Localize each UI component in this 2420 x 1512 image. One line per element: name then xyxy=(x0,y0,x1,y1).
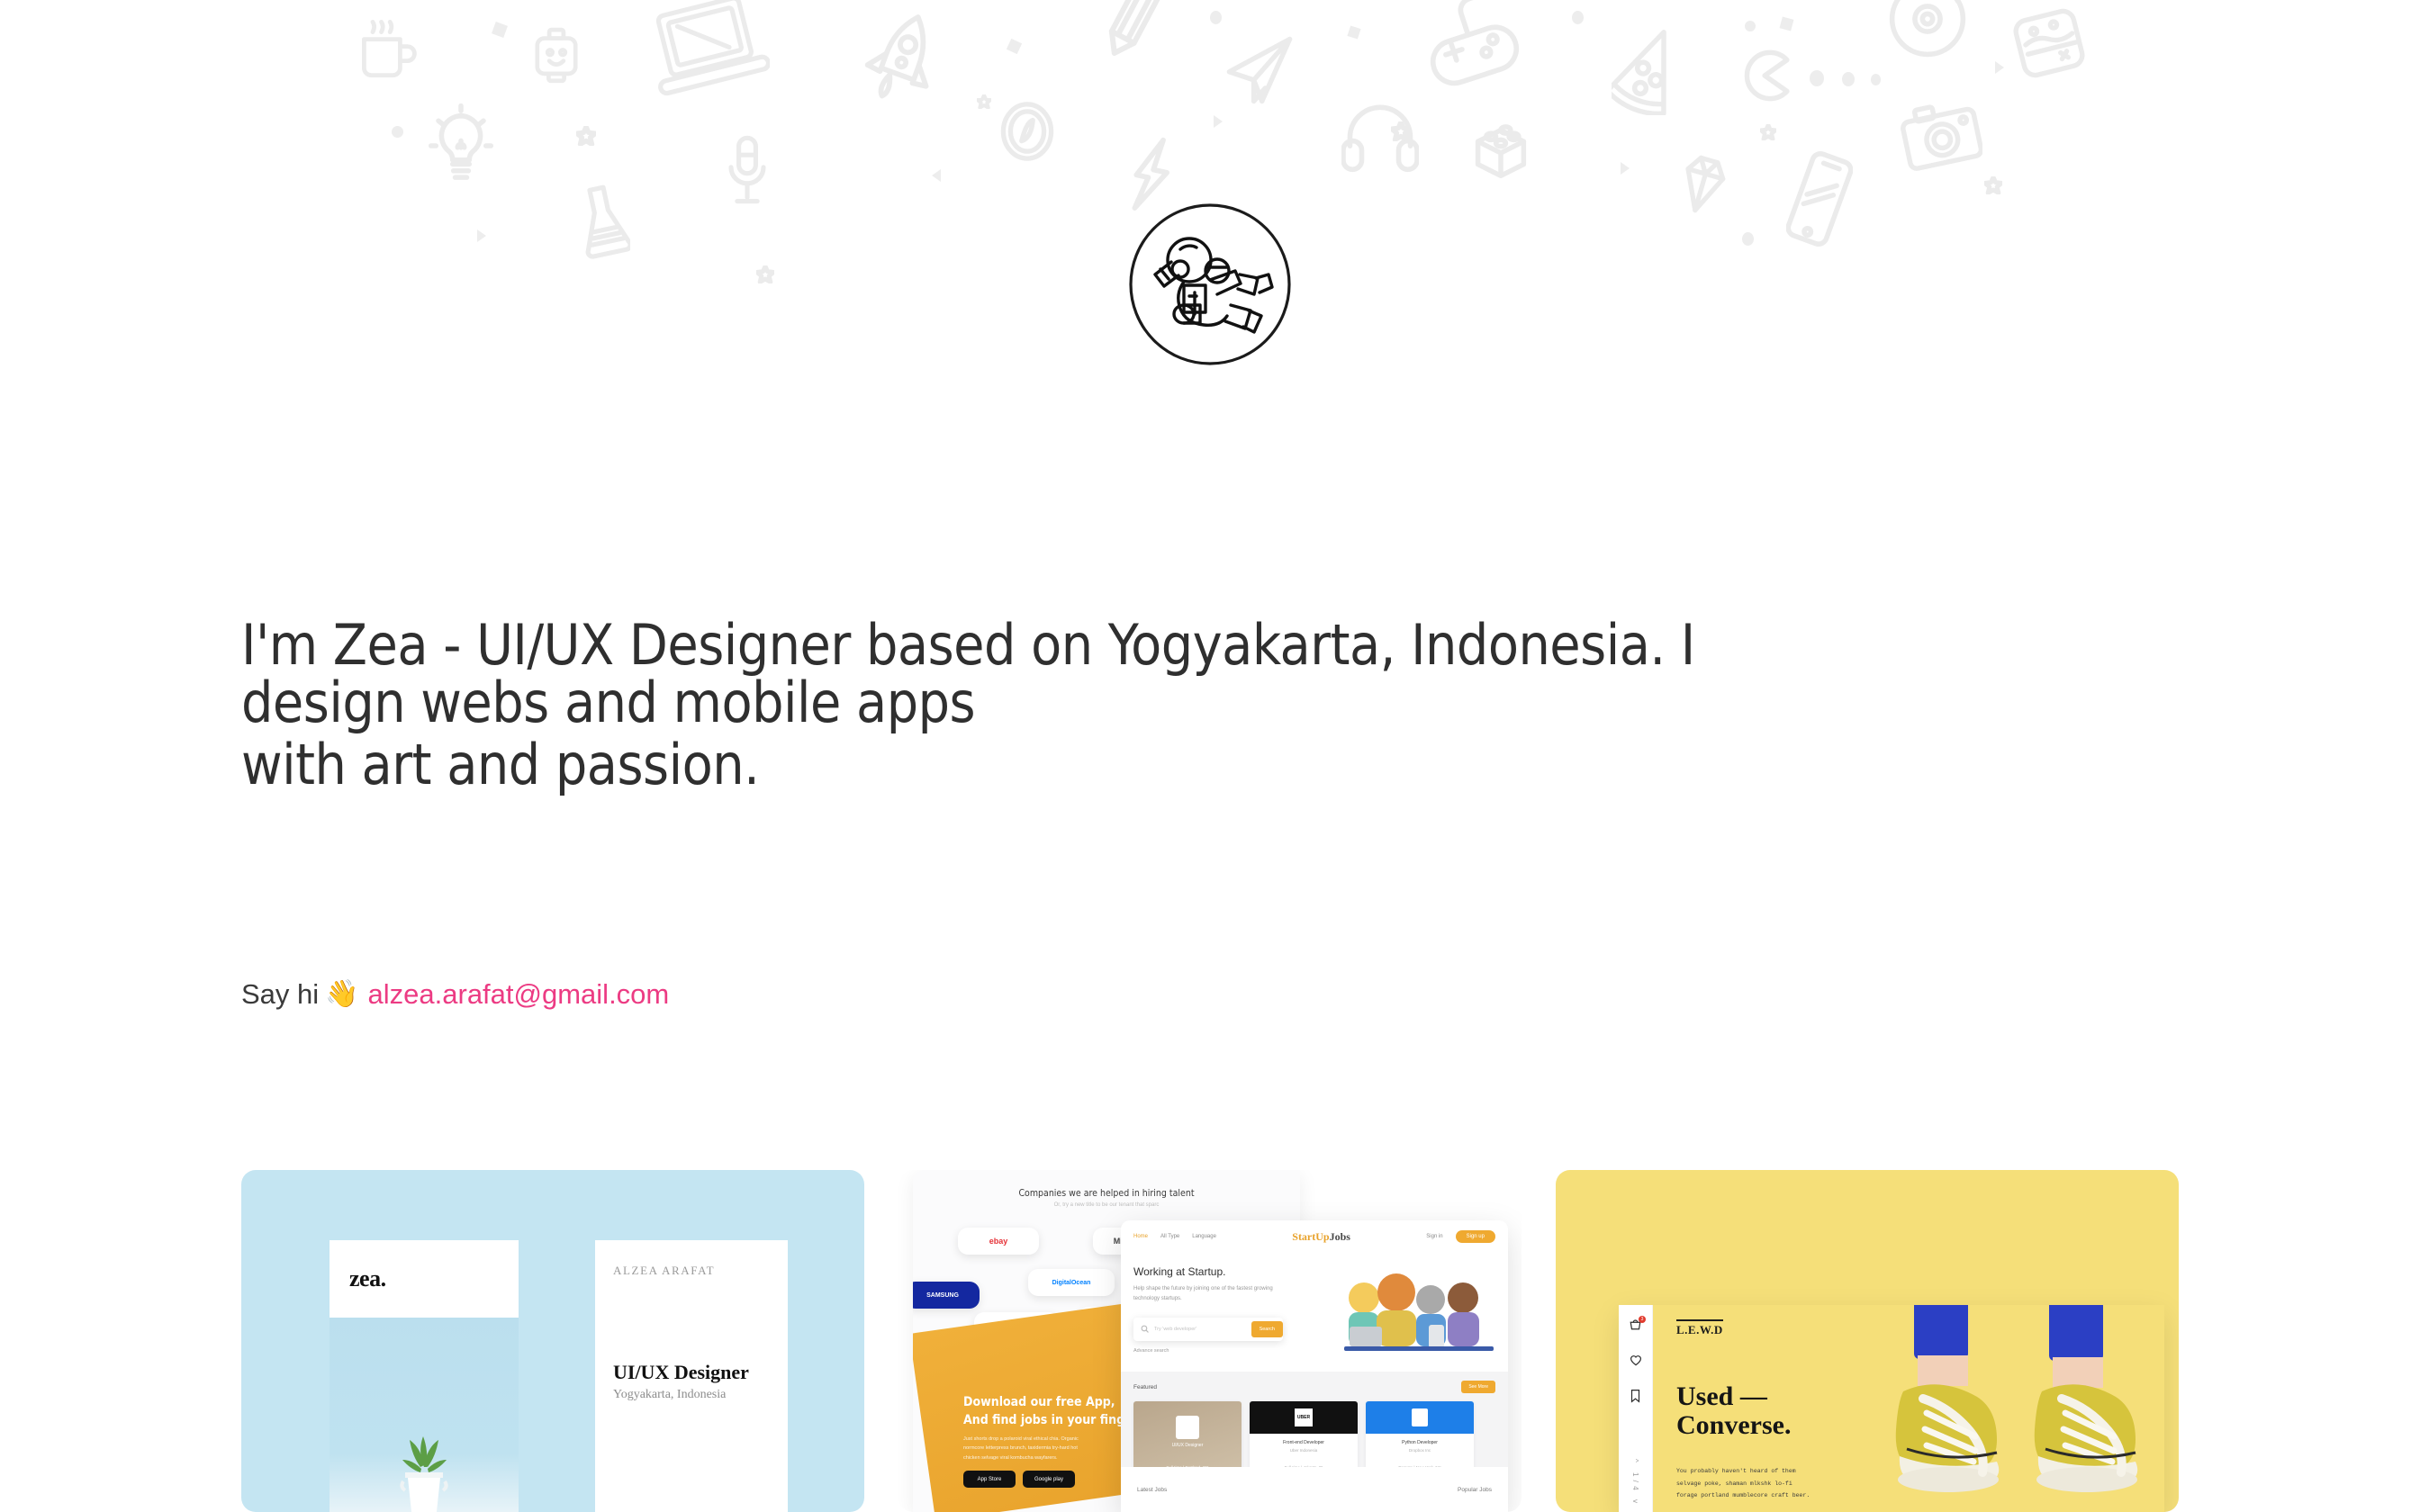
sign-up-button[interactable]: Sign up xyxy=(1456,1230,1495,1243)
logo-pill-ebay: ebay xyxy=(958,1228,1039,1255)
star-icon xyxy=(1984,176,2002,194)
web-front-page: Home All Type Language StartUpJobs Sign … xyxy=(1121,1220,1508,1512)
gamepad-icon xyxy=(1421,0,1520,90)
microphone-icon xyxy=(720,130,774,213)
startupjobs-logo: StartUpJobs xyxy=(1292,1230,1350,1244)
namecard-location: Yogyakarta, Indonesia xyxy=(613,1388,770,1402)
project-card-startupjobs[interactable]: Companies we are helped in hiring talent… xyxy=(898,1170,1522,1512)
site-navbar: Home All Type Language StartUpJobs Sign … xyxy=(1121,1220,1508,1253)
sign-in-link[interactable]: Sign in xyxy=(1426,1234,1442,1239)
brand-sheet-namecard: ALZEA ARAFAT UI/UX Designer Yogyakarta, … xyxy=(595,1240,788,1512)
brand-word-startup: StartUp xyxy=(1292,1230,1329,1243)
smartphone-icon xyxy=(1786,149,1853,248)
square-icon xyxy=(1347,25,1360,39)
say-hi-label: Say hi xyxy=(241,978,319,1011)
job-title: UI/UX Designer xyxy=(1133,1443,1242,1448)
logo-pill-digitalocean: DigitalOcean xyxy=(1028,1269,1115,1296)
triangle-icon xyxy=(1995,61,2004,74)
pacman-dot-icon xyxy=(1842,72,1855,86)
mug-icon xyxy=(351,16,423,88)
dot-icon xyxy=(1572,11,1584,24)
popular-jobs-dropdown[interactable]: Popular Jobs xyxy=(1458,1487,1492,1493)
app-store-badge[interactable]: App Store xyxy=(963,1471,1016,1488)
job-company: Uber Indonesia xyxy=(1250,1448,1358,1453)
shop-pager-count: 1 / 4 xyxy=(1631,1472,1639,1491)
star-icon xyxy=(1760,124,1776,140)
square-icon xyxy=(1780,17,1794,31)
star-icon xyxy=(977,94,991,109)
waving-hand-icon: 👋 xyxy=(325,981,358,1008)
job-thumbnail xyxy=(1366,1401,1474,1434)
namecard-kicker: ALZEA ARAFAT xyxy=(613,1264,770,1278)
cd-icon xyxy=(1887,0,1968,59)
brand-sheet-logo: zea. xyxy=(330,1240,519,1512)
square-icon xyxy=(492,22,508,38)
front-hero-paragraph: Help shape the future by joining one of … xyxy=(1133,1284,1282,1305)
lego-brick-icon xyxy=(1467,117,1534,187)
diamond-icon xyxy=(1675,153,1730,216)
job-title: Python Developer xyxy=(1366,1440,1474,1445)
google-play-badge[interactable]: Google play xyxy=(1023,1471,1075,1488)
pencil-icon xyxy=(1097,0,1169,68)
star-icon xyxy=(1391,121,1411,141)
square-icon xyxy=(1007,39,1022,54)
shop-pager-down[interactable]: v xyxy=(1631,1499,1639,1504)
converse-shoes-photo xyxy=(1873,1305,2164,1512)
product-description: You probably haven't heard of them selva… xyxy=(1676,1465,1811,1502)
product-title-line2: Converse. xyxy=(1676,1410,1791,1440)
nav-item-alltype[interactable]: All Type xyxy=(1160,1234,1179,1239)
back-page-subtitle: Or, try a new title to be our tenant tha… xyxy=(913,1202,1300,1208)
product-title-line1: Used — xyxy=(1676,1381,1767,1411)
cart-count-badge: 3 xyxy=(1639,1316,1646,1323)
flask-icon xyxy=(576,180,630,261)
lightbulb-icon xyxy=(428,103,494,188)
job-company: Dropbox Inc xyxy=(1366,1448,1474,1453)
zea-logotype: zea. xyxy=(349,1265,386,1292)
job-card[interactable]: UI/UX Designer Full-time | Portland, OR xyxy=(1133,1401,1242,1475)
see-more-button[interactable]: See More xyxy=(1461,1381,1495,1393)
job-card[interactable]: UBER Front-end Developer Uber Indonesia … xyxy=(1250,1401,1358,1475)
lewd-logo: L.E.W.D xyxy=(1676,1319,1723,1337)
bookmark-icon[interactable] xyxy=(1630,1389,1641,1408)
dot-icon xyxy=(1742,232,1754,246)
dot-icon xyxy=(392,126,403,138)
pizza-icon xyxy=(1612,25,1685,115)
rocket-icon xyxy=(860,9,946,108)
project-card-lewd-shop[interactable]: 3 ^ 1 / 4 v L.E.W.D Use xyxy=(1556,1170,2179,1512)
triangle-icon xyxy=(1214,115,1223,128)
nav-item-language[interactable]: Language xyxy=(1192,1234,1216,1239)
latest-jobs-bar: Latest Jobs Popular Jobs xyxy=(1121,1467,1508,1512)
job-card[interactable]: Python Developer Dropbox Inc Remote | Ne… xyxy=(1366,1401,1474,1475)
pacman-icon xyxy=(1738,47,1795,104)
paper-plane-icon xyxy=(1224,34,1295,106)
heart-icon[interactable] xyxy=(1629,1353,1643,1372)
headphones-icon xyxy=(1341,99,1419,173)
astronaut-logo-icon[interactable] xyxy=(1124,199,1296,370)
plant-photo xyxy=(330,1318,519,1512)
shop-sidebar-rail: 3 ^ 1 / 4 v xyxy=(1619,1305,1653,1512)
featured-header: Featured See More xyxy=(1133,1381,1495,1393)
portfolio-page: I'm Zea - UI/UX Designer based on Yogyak… xyxy=(0,0,2420,1512)
download-headline-1: Download our free App, xyxy=(963,1395,1115,1409)
project-card-branding[interactable]: zea. xyxy=(241,1170,864,1512)
camera-icon xyxy=(1900,97,1982,171)
cart-icon[interactable]: 3 xyxy=(1629,1318,1642,1336)
triangle-icon xyxy=(477,229,486,242)
logo-pill-samsung: SAMSUNG xyxy=(913,1282,980,1309)
job-thumbnail: UI/UX Designer Full-time | Portland, OR xyxy=(1133,1401,1242,1475)
product-title: Used — Converse. xyxy=(1676,1382,1791,1440)
download-paragraph: Just shorts drop a polaroid viral ethica… xyxy=(963,1435,1085,1462)
featured-jobs-section: Featured See More UI/UX Designer Full-ti… xyxy=(1121,1372,1508,1467)
job-thumbnail: UBER xyxy=(1250,1401,1358,1434)
search-icon xyxy=(1141,1325,1149,1333)
job-search-button[interactable]: Search xyxy=(1251,1321,1283,1337)
headline-line-3: with art and passion. xyxy=(241,736,2132,794)
compass-icon xyxy=(999,99,1055,164)
triangle-icon xyxy=(1621,162,1630,175)
lego-head-icon xyxy=(531,27,582,86)
latest-jobs-label: Latest Jobs xyxy=(1137,1487,1167,1493)
featured-label: Featured xyxy=(1133,1384,1157,1390)
page-title: I'm Zea - UI/UX Designer based on Yogyak… xyxy=(241,616,2132,794)
job-title: Front-end Developer xyxy=(1250,1440,1358,1445)
pacman-dot-icon xyxy=(1871,74,1881,85)
hero-section: I'm Zea - UI/UX Designer based on Yogyak… xyxy=(241,616,2132,794)
team-illustration xyxy=(1339,1262,1499,1352)
shop-product-panel: L.E.W.D Used — Converse. You probably ha… xyxy=(1653,1305,2164,1512)
potted-plant-icon xyxy=(391,1426,457,1512)
job-search-bar[interactable]: Try 'web developer' Search xyxy=(1133,1318,1283,1341)
burger-icon xyxy=(2013,7,2085,79)
triangle-icon xyxy=(932,169,941,182)
laptop-icon xyxy=(648,0,770,112)
shop-pager[interactable]: ^ 1 / 4 v xyxy=(1631,1459,1639,1504)
project-card-grid: zea. xyxy=(241,1170,2179,1512)
shop-pager-up[interactable]: ^ xyxy=(1631,1459,1639,1463)
shop-browser-window: 3 ^ 1 / 4 v L.E.W.D Use xyxy=(1619,1305,2164,1512)
star-icon xyxy=(756,265,774,283)
dot-icon xyxy=(1210,11,1222,24)
dot-icon xyxy=(1745,21,1756,31)
headline-line-2: design webs and mobile apps xyxy=(241,670,975,735)
namecard-role: UI/UX Designer xyxy=(613,1361,770,1384)
email-link[interactable]: alzea.arafat@gmail.com xyxy=(368,978,670,1011)
back-page-title: Companies we are helped in hiring talent xyxy=(913,1188,1300,1199)
star-icon xyxy=(576,126,596,146)
brand-word-jobs: Jobs xyxy=(1330,1230,1350,1243)
job-search-input[interactable]: Try 'web developer' xyxy=(1154,1327,1246,1332)
nav-item-home[interactable]: Home xyxy=(1133,1234,1148,1239)
featured-job-list: UI/UX Designer Full-time | Portland, OR … xyxy=(1133,1401,1495,1475)
headline-line-1: I'm Zea - UI/UX Designer based on Yogyak… xyxy=(241,612,1695,678)
pacman-dot-icon xyxy=(1810,70,1824,86)
contact-line: Say hi 👋 alzea.arafat@gmail.com xyxy=(241,978,669,1011)
